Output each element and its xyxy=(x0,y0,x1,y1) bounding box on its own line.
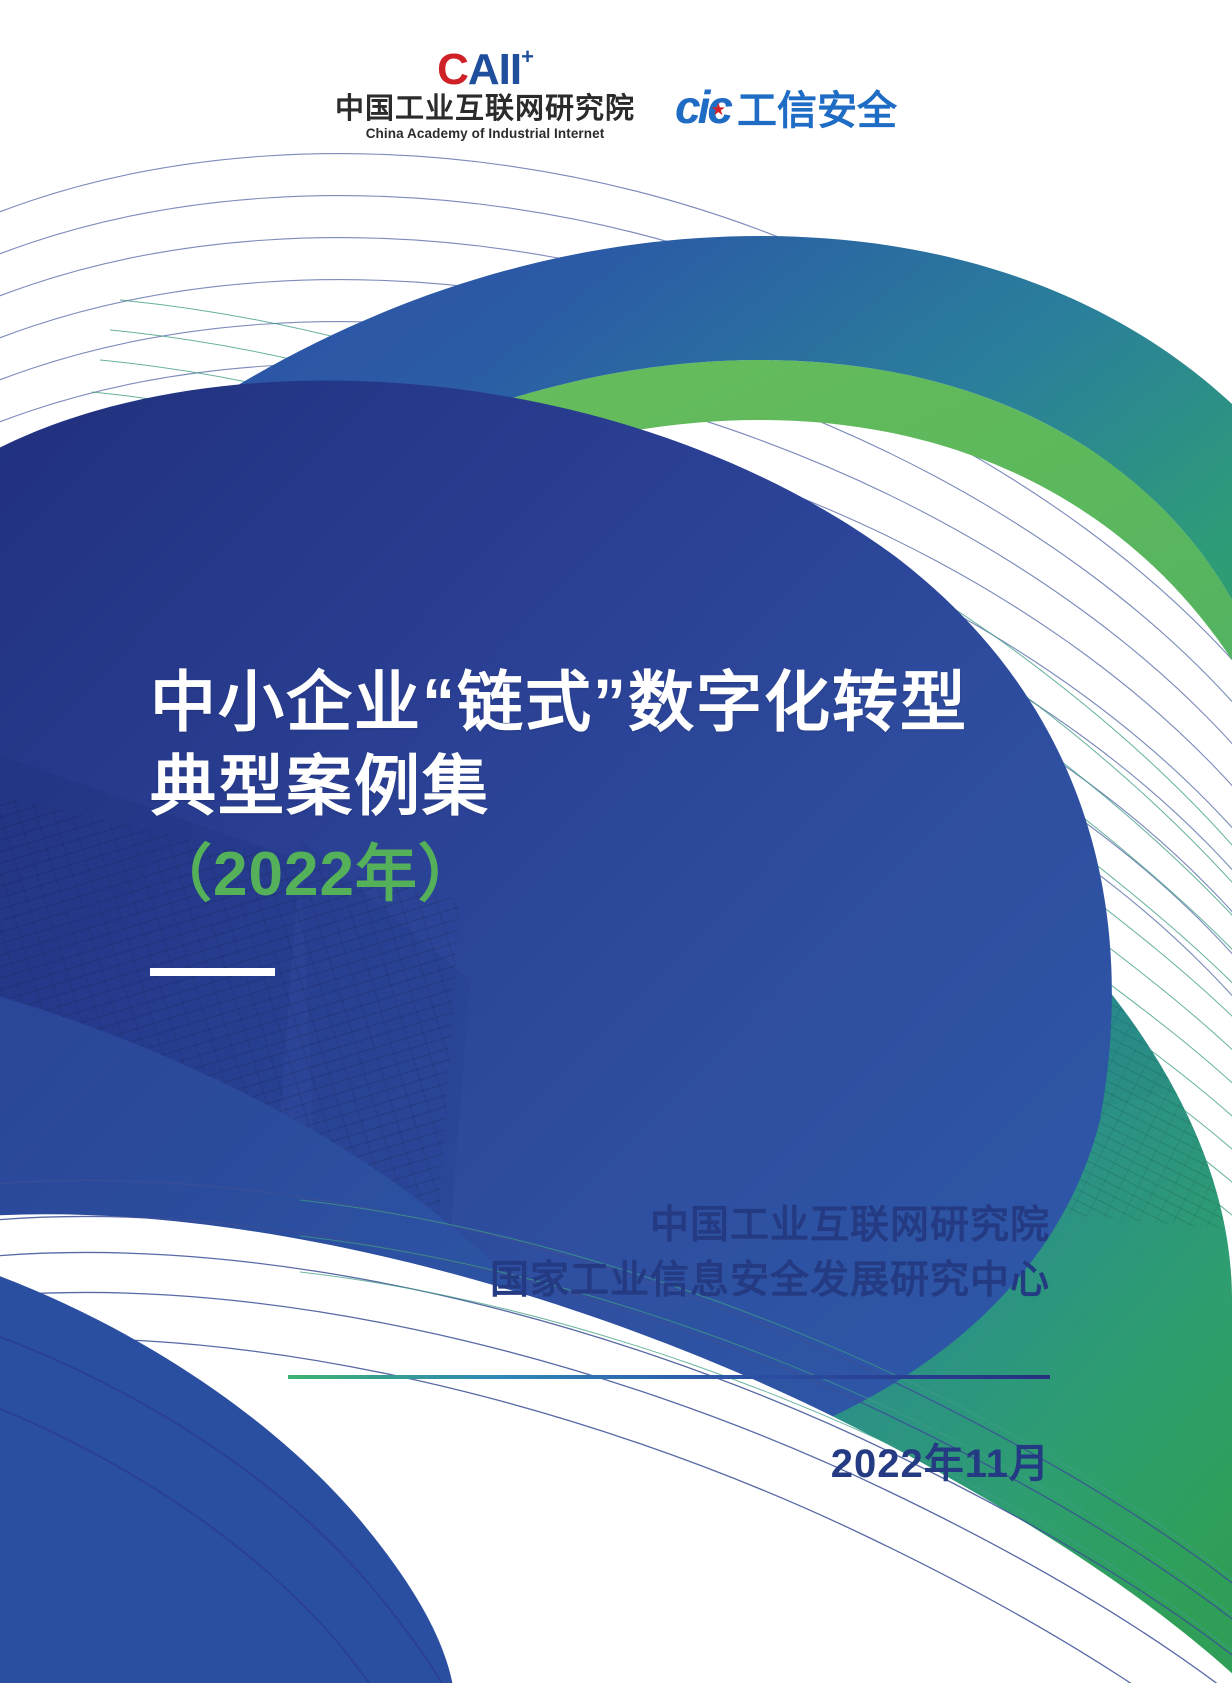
title-underline-rule xyxy=(150,968,275,976)
publisher-organization-1: 中国工业互联网研究院 xyxy=(288,1198,1050,1253)
red-star-icon: ★ xyxy=(711,100,723,120)
cic-wordmark: cic ★ xyxy=(675,80,730,134)
caii-plus-icon: + xyxy=(521,46,533,68)
caii-chinese-name: 中国工业互联网研究院 xyxy=(335,95,635,124)
caii-letter-c: C xyxy=(437,48,468,92)
cic-chinese-name: 工信安全 xyxy=(737,78,897,136)
footer-block: 中国工业互联网研究院 国家工业信息安全发展研究中心 2022年11月 xyxy=(288,1198,1050,1489)
cover-title-line-2: 典型案例集 xyxy=(150,744,968,828)
caii-english-name: China Academy of Industrial Internet xyxy=(366,127,605,141)
cover-subtitle-year: （2022年） xyxy=(150,835,968,916)
logo-bar: CAII+ 中国工业互联网研究院 China Academy of Indust… xyxy=(0,48,1232,168)
publisher-organization-2: 国家工业信息安全发展研究中心 xyxy=(288,1253,1050,1308)
cover-title-line-1: 中小企业“链式”数字化转型 xyxy=(150,660,968,744)
caii-wordmark: CAII+ xyxy=(437,48,533,92)
footer-gradient-divider xyxy=(288,1375,1050,1379)
logo-cic: cic ★ 工信安全 xyxy=(675,78,897,136)
logo-caii: CAII+ 中国工业互联网研究院 China Academy of Indust… xyxy=(335,48,635,141)
cover-page: CAII+ 中国工业互联网研究院 China Academy of Indust… xyxy=(0,0,1232,1683)
title-block: 中小企业“链式”数字化转型 典型案例集 （2022年） xyxy=(150,660,968,976)
publication-date: 2022年11月 xyxy=(288,1431,1050,1489)
caii-letters-aii: AII xyxy=(468,48,521,92)
